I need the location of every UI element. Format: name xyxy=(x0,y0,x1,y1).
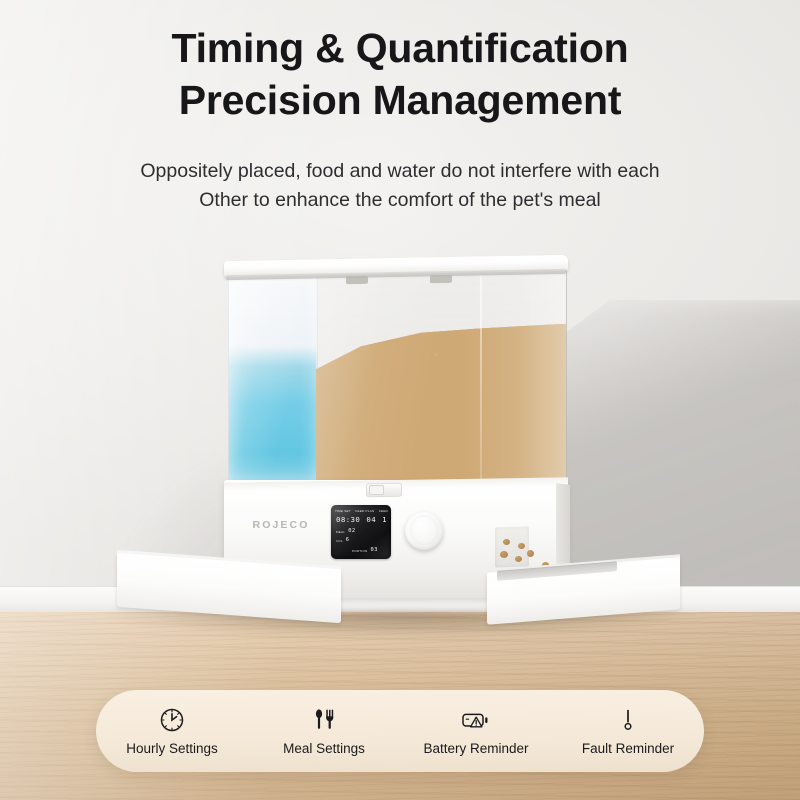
control-knob-inner[interactable] xyxy=(410,515,438,545)
falling-pellet xyxy=(527,550,534,557)
food-hopper xyxy=(316,270,567,487)
lid-hinge-right xyxy=(430,275,452,283)
lcd-glass-gloss xyxy=(331,505,391,559)
feature-label: Meal Settings xyxy=(283,741,365,756)
feature-bar: Hourly Settings Meal Settings xyxy=(96,690,704,772)
brand-logo: ROJECO xyxy=(246,519,316,531)
feature-label: Fault Reminder xyxy=(582,741,674,756)
battery-warning-icon xyxy=(460,706,492,734)
hopper-corner-seam xyxy=(480,274,482,482)
feature-meal-settings[interactable]: Meal Settings xyxy=(250,706,398,756)
exclamation-icon xyxy=(614,706,642,734)
falling-pellet xyxy=(518,543,525,549)
hopper-lock-slider-knob[interactable] xyxy=(369,485,384,495)
feature-fault-reminder[interactable]: Fault Reminder xyxy=(554,706,702,756)
pet-feeder-device: ROJECO TIME SET FEED PLAN FEED 08:30 04 … xyxy=(0,0,800,800)
feature-label: Hourly Settings xyxy=(126,741,218,756)
cutlery-icon xyxy=(310,706,338,734)
water-tank-gloss xyxy=(228,276,316,482)
feature-label: Battery Reminder xyxy=(423,741,528,756)
falling-pellet xyxy=(500,551,508,558)
falling-pellet xyxy=(515,556,522,562)
falling-pellet xyxy=(503,539,510,545)
lid-hinge-left xyxy=(346,276,368,284)
feature-hourly-settings[interactable]: Hourly Settings xyxy=(98,706,246,756)
clock-icon xyxy=(158,706,186,734)
feature-battery-reminder[interactable]: Battery Reminder xyxy=(402,706,550,756)
product-marketing-image: Timing & Quantification Precision Manage… xyxy=(0,0,800,800)
kibble-texture xyxy=(316,324,566,487)
lcd-display[interactable]: TIME SET FEED PLAN FEED 08:30 04 1 MEAL … xyxy=(331,505,391,559)
